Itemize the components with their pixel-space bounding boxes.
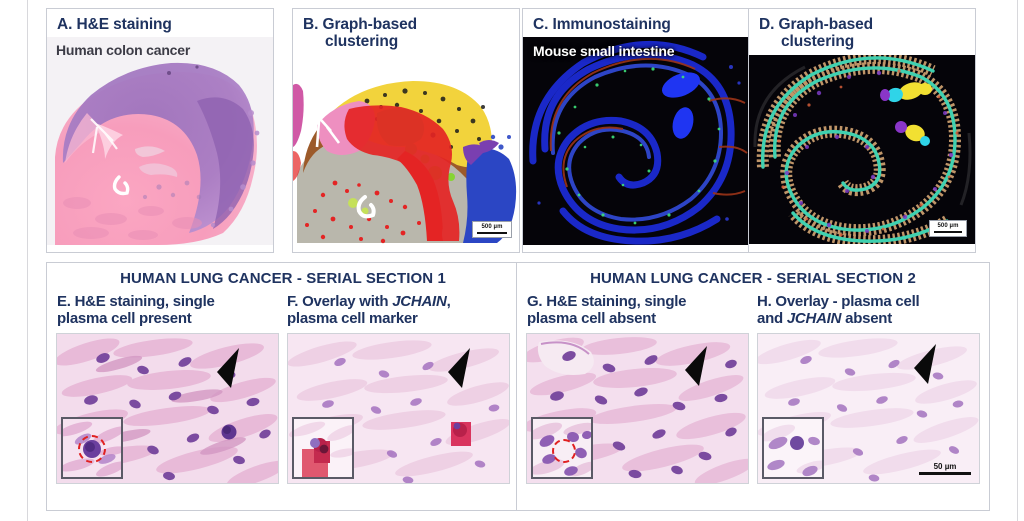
panel-g-title: G. H&E staining, singleplasma cell absen… <box>517 293 753 327</box>
group-2-subtitles: G. H&E staining, singleplasma cell absen… <box>517 287 989 327</box>
panel-g-inset <box>531 417 593 479</box>
right-margin-rule <box>1017 0 1018 521</box>
panel-a-image: Human colon cancer <box>47 37 273 245</box>
group-1-subtitles: E. H&E staining, singleplasma cell prese… <box>47 287 519 327</box>
panel-e-arrowhead <box>211 346 241 390</box>
panel-g-empty-marker <box>552 439 576 463</box>
panel-b-image: 500 µm <box>293 55 519 244</box>
panel-f-title: F. Overlay with JCHAIN,plasma cell marke… <box>283 293 519 327</box>
left-margin-rule <box>27 0 28 521</box>
panel-h-arrowhead <box>908 342 938 386</box>
panel-h-title: H. Overlay - plasma celland JCHAIN absen… <box>753 293 989 327</box>
panel-g-image <box>526 333 749 484</box>
panel-b-title: B. Graph-based clustering <box>293 9 519 55</box>
group-1-header: HUMAN LUNG CANCER - SERIAL SECTION 1 <box>47 263 519 287</box>
group-2-header: HUMAN LUNG CANCER - SERIAL SECTION 2 <box>517 263 989 287</box>
panel-h-scalebar: 50 µm <box>919 462 971 475</box>
panel-e-plasma-cell-marker <box>78 435 106 463</box>
group-serial-section-2: HUMAN LUNG CANCER - SERIAL SECTION 2 G. … <box>516 262 990 511</box>
panel-e-title: E. H&E staining, singleplasma cell prese… <box>47 293 283 327</box>
group-1-tiles <box>47 333 519 484</box>
panel-d: D. Graph-based clustering <box>748 8 976 253</box>
group-2-tiles: 50 µm <box>517 333 989 484</box>
panel-c: C. Immunostaining <box>522 8 750 253</box>
panel-a-title: A. H&E staining <box>47 9 273 37</box>
panel-e-inset <box>61 417 123 479</box>
panel-f-image <box>287 333 510 484</box>
panel-f-inset <box>292 417 354 479</box>
panel-b-scalebar: 500 µm <box>472 221 512 238</box>
figure-root: A. H&E staining <box>0 0 1024 521</box>
panel-e-image <box>56 333 279 484</box>
panel-f-arrowhead <box>442 346 472 390</box>
panel-b: B. Graph-based clustering <box>292 8 520 253</box>
panel-g-arrowhead <box>679 344 709 388</box>
panel-c-title: C. Immunostaining <box>523 9 749 37</box>
panel-c-image: Mouse small intestine <box>523 37 749 245</box>
panel-h-image: 50 µm <box>757 333 980 484</box>
panel-d-image: 500 µm <box>749 55 975 244</box>
panel-a-image-caption: Human colon cancer <box>56 42 190 58</box>
group-serial-section-1: HUMAN LUNG CANCER - SERIAL SECTION 1 E. … <box>46 262 520 511</box>
panel-h-inset <box>762 417 824 479</box>
panel-a: A. H&E staining <box>46 8 274 253</box>
panel-c-image-caption: Mouse small intestine <box>533 43 674 59</box>
panel-d-scalebar: 500 µm <box>929 220 967 237</box>
panel-d-title: D. Graph-based clustering <box>749 9 975 55</box>
